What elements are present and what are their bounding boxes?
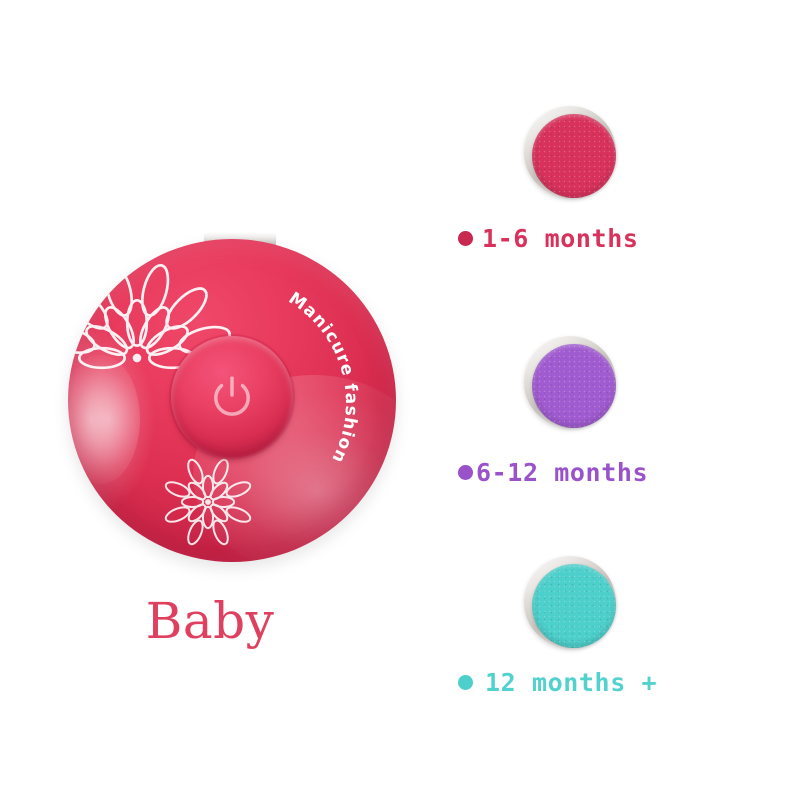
rim-highlight <box>68 355 140 484</box>
pad-disc[interactable] <box>420 104 800 208</box>
power-icon <box>205 370 259 424</box>
pad-label: 6-12 months <box>476 458 648 487</box>
bullet-icon <box>458 231 473 246</box>
pad-grain-texture <box>532 344 616 428</box>
pad-abrasive-face <box>532 344 616 428</box>
brand-text-label: Manicure fashion <box>285 288 361 466</box>
pad-label-row: 6-12 months <box>458 458 788 487</box>
device-panel: Manicure fashion Baby <box>0 0 420 800</box>
pad-disc[interactable] <box>420 334 800 438</box>
pads-panel: 1-6 months 6-12 months <box>420 0 800 800</box>
pad-grain-texture <box>532 114 616 198</box>
pad-grain-texture <box>532 564 616 648</box>
nail-trimmer-device[interactable]: Manicure fashion <box>68 232 396 562</box>
pad-abrasive-face <box>532 564 616 648</box>
list-item[interactable]: 12 months + <box>420 554 800 658</box>
list-item[interactable]: 1-6 months <box>420 104 800 208</box>
flower-icon <box>150 444 266 560</box>
pad-disc[interactable] <box>420 554 800 658</box>
svg-text:Manicure fashion: Manicure fashion <box>285 288 361 466</box>
page-title: Baby <box>0 592 420 650</box>
product-image-canvas: Manicure fashion Baby <box>0 0 800 800</box>
list-item[interactable]: 6-12 months <box>420 334 800 438</box>
pad-abrasive-face <box>532 114 616 198</box>
bullet-icon <box>458 465 473 480</box>
power-button[interactable] <box>171 336 293 458</box>
pad-label: 12 months + <box>485 668 657 697</box>
pad-label-row: 1-6 months <box>458 224 788 253</box>
pad-label-row: 12 months + <box>458 668 788 697</box>
bullet-icon <box>458 675 473 690</box>
device-body: Manicure fashion <box>68 239 396 562</box>
pad-label: 1-6 months <box>482 224 639 253</box>
